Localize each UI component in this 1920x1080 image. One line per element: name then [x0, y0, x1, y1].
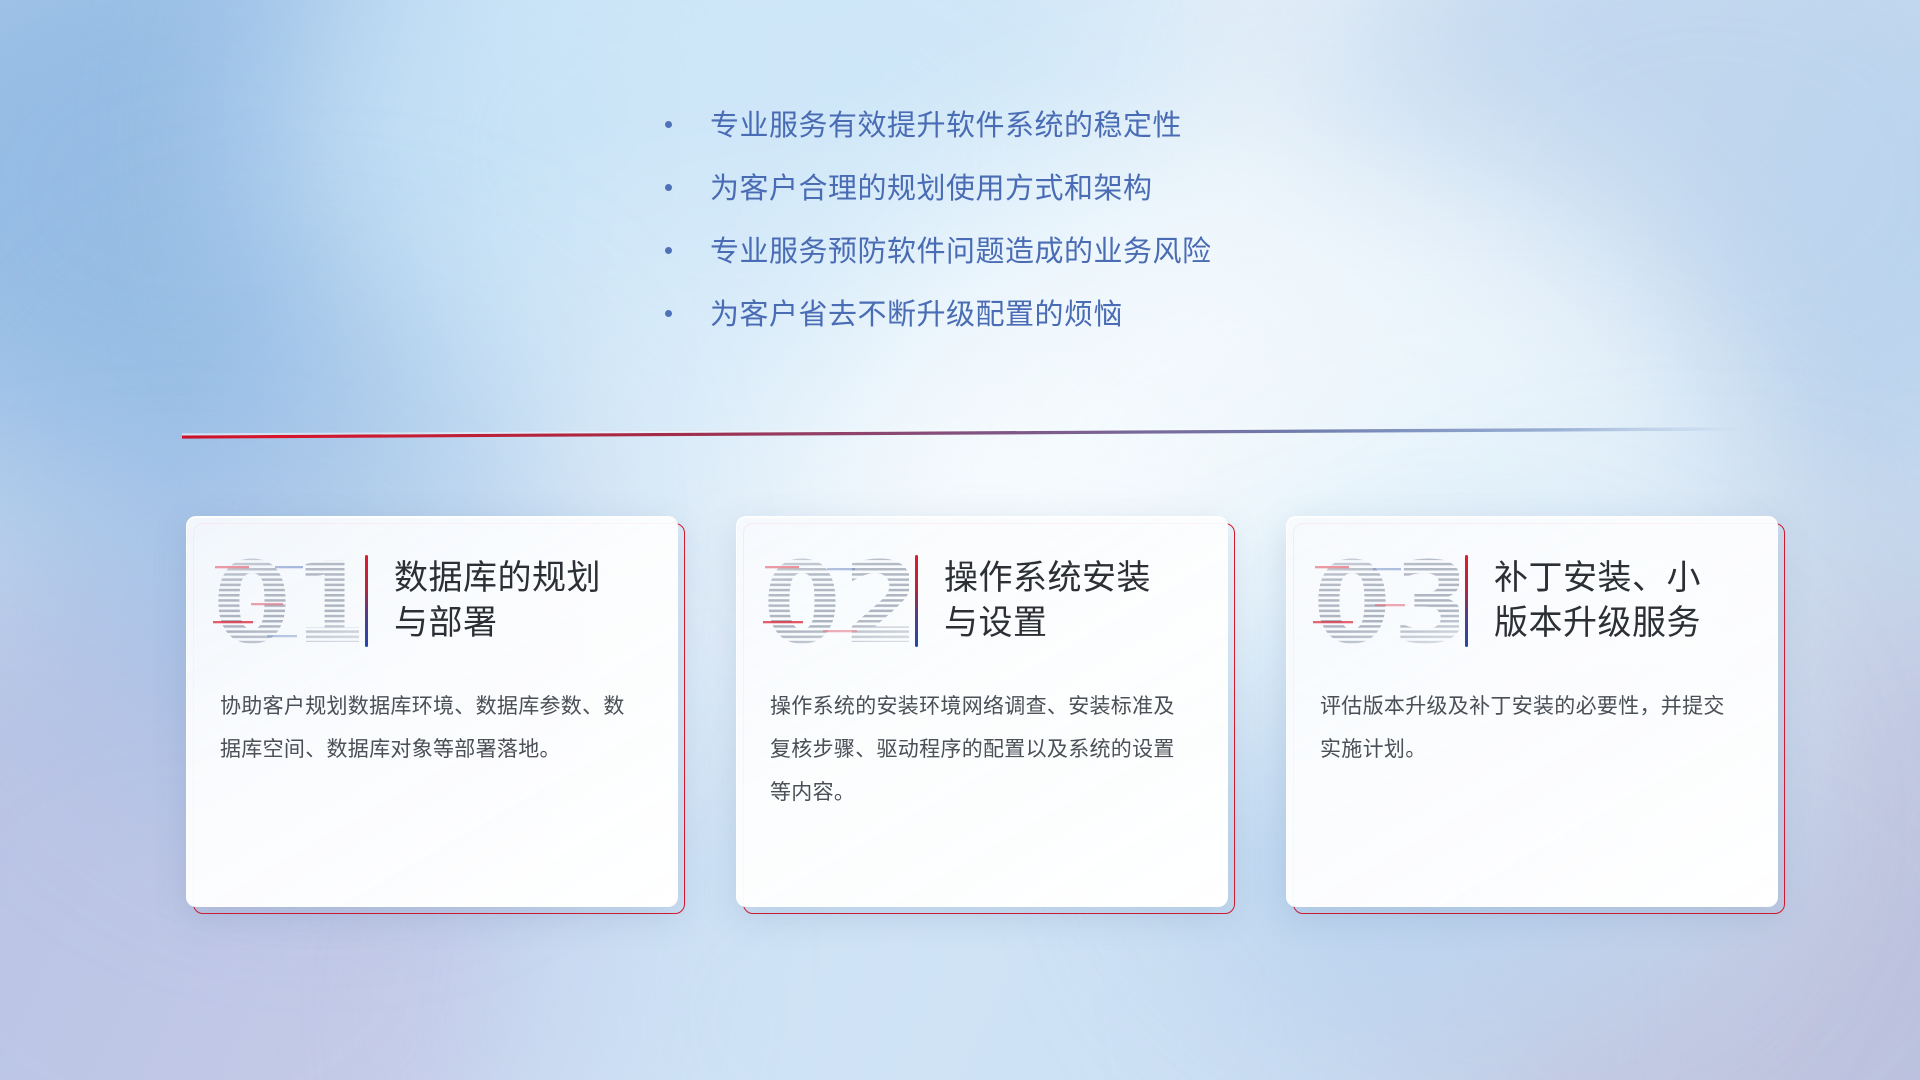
- card-title: 数据库的规划 与部署: [394, 556, 601, 646]
- card-accent-bar: [915, 555, 918, 647]
- card-title-line: 补丁安装、小: [1494, 556, 1701, 601]
- list-item: 专业服务预防软件问题造成的业务风险: [665, 236, 1485, 268]
- card-title-line: 操作系统安装: [944, 556, 1151, 601]
- card-title-line: 数据库的规划: [394, 556, 601, 601]
- striped-number-icon: 02: [761, 542, 909, 660]
- card-header: 02 操作系统安装 与设置: [737, 517, 1227, 685]
- service-card[interactable]: 03 补丁安装、小 版本升级服务 评估版本升级及补丁安装的必要性，并提交实施计划…: [1286, 516, 1778, 907]
- card-surface[interactable]: 03 补丁安装、小 版本升级服务 评估版本升级及补丁安装的必要性，并提交实施计划…: [1286, 516, 1778, 907]
- card-surface[interactable]: 02 操作系统安装 与设置 操作系统的安装环境网络调查、安装标准及复核步骤、驱动…: [736, 516, 1228, 907]
- card-title: 操作系统安装 与设置: [944, 556, 1151, 646]
- service-card[interactable]: 01 数据库的规划 与部署 协助客户规划数据库环境、数据库参数、: [186, 516, 678, 907]
- service-card-list: 01 数据库的规划 与部署 协助客户规划数据库环境、数据库参数、: [186, 516, 1778, 907]
- card-number-text: 02: [763, 542, 909, 660]
- card-title-line: 版本升级服务: [1494, 601, 1701, 646]
- card-number-watermark: 01: [211, 542, 359, 660]
- card-title-line: 与设置: [944, 601, 1151, 646]
- card-body-text: 评估版本升级及补丁安装的必要性，并提交实施计划。: [1287, 685, 1777, 771]
- tapered-gradient-rule-icon: [182, 424, 1742, 440]
- list-item: 为客户省去不断升级配置的烦恼: [665, 299, 1485, 331]
- list-item: 为客户合理的规划使用方式和架构: [665, 173, 1485, 205]
- card-accent-bar: [365, 555, 368, 647]
- list-item: 专业服务有效提升软件系统的稳定性: [665, 110, 1485, 142]
- bullet-label: 为客户省去不断升级配置的烦恼: [710, 299, 1123, 331]
- card-number-watermark: 02: [761, 542, 909, 660]
- card-accent-bar: [1465, 555, 1468, 647]
- bullet-dot-icon: [665, 247, 672, 254]
- bullet-label: 专业服务预防软件问题造成的业务风险: [710, 236, 1212, 268]
- striped-number-icon: 03: [1311, 542, 1459, 660]
- card-title-line: 与部署: [394, 601, 601, 646]
- bullet-label: 专业服务有效提升软件系统的稳定性: [710, 110, 1182, 142]
- bullet-dot-icon: [665, 121, 672, 128]
- card-number-watermark: 03: [1311, 542, 1459, 660]
- card-body-text: 操作系统的安装环境网络调查、安装标准及复核步骤、驱动程序的配置以及系统的设置等内…: [737, 685, 1227, 814]
- bullet-label: 为客户合理的规划使用方式和架构: [710, 173, 1153, 205]
- card-number-text: 03: [1313, 542, 1459, 660]
- benefits-bullet-list: 专业服务有效提升软件系统的稳定性 为客户合理的规划使用方式和架构 专业服务预防软…: [665, 110, 1485, 362]
- card-header: 03 补丁安装、小 版本升级服务: [1287, 517, 1777, 685]
- card-body-text: 协助客户规划数据库环境、数据库参数、数据库空间、数据库对象等部署落地。: [187, 685, 677, 771]
- bullet-dot-icon: [665, 184, 672, 191]
- section-divider: [182, 424, 1742, 440]
- card-title: 补丁安装、小 版本升级服务: [1494, 556, 1701, 646]
- bullet-dot-icon: [665, 310, 672, 317]
- striped-number-icon: 01: [211, 542, 359, 660]
- card-header: 01 数据库的规划 与部署: [187, 517, 677, 685]
- card-surface[interactable]: 01 数据库的规划 与部署 协助客户规划数据库环境、数据库参数、: [186, 516, 678, 907]
- card-number-text: 01: [213, 542, 359, 660]
- service-card[interactable]: 02 操作系统安装 与设置 操作系统的安装环境网络调查、安装标准及复核步骤、驱动…: [736, 516, 1228, 907]
